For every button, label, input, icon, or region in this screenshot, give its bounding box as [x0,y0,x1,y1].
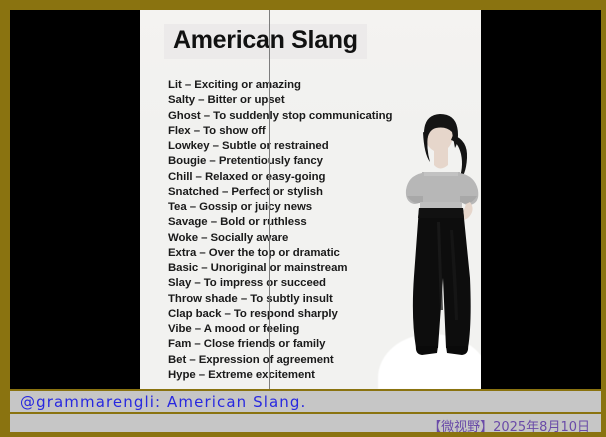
post-image-area: American Slang Lit – Exciting or amazing… [10,10,606,389]
caption-bar: @grammarengli: American Slang. [10,391,606,412]
list-item: Lit – Exciting or amazing [168,78,468,93]
list-item: Salty – Bitter or upset [168,93,468,108]
page-title: American Slang [164,24,367,59]
letterbox-right [481,10,606,389]
title-container: American Slang [164,24,367,59]
watermark-text: 【微视野】2025年8月10日 [428,416,606,435]
letterbox-left [10,10,140,389]
slang-card: American Slang Lit – Exciting or amazing… [140,10,481,389]
woman-illustration [390,110,481,389]
watermark-bar: 【微视野】2025年8月10日 [10,414,606,437]
caption-text: @grammarengli: American Slang. [10,393,306,411]
card-edge-left [269,10,270,389]
post-frame: American Slang Lit – Exciting or amazing… [0,0,606,437]
